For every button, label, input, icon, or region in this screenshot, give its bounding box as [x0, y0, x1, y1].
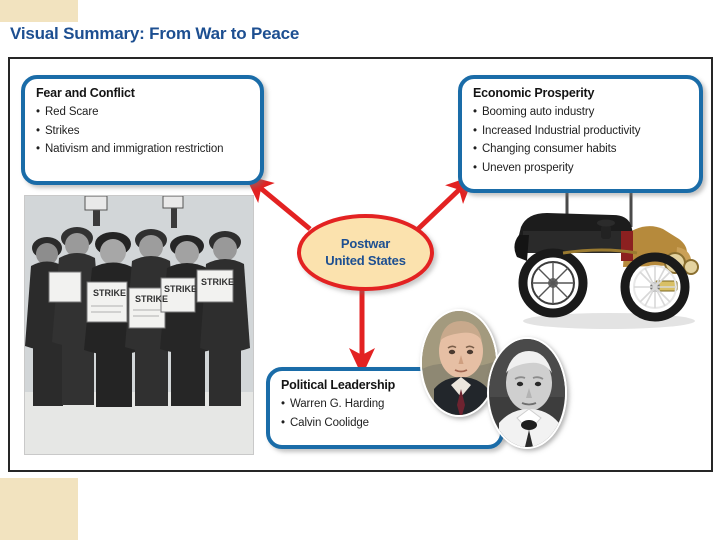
list-item: Increased Industrial productivity: [473, 122, 699, 141]
list-item: Nativism and immigration restriction: [36, 140, 260, 159]
list-item: Strikes: [36, 122, 260, 141]
bottom-accent-band: [0, 478, 78, 540]
box-economic-bullets: Booming auto industry Increased Industri…: [462, 103, 699, 184]
list-item: Booming auto industry: [473, 103, 699, 122]
arrow-to-fear-and-conflict: [258, 186, 310, 229]
list-item: Changing consumer habits: [473, 140, 699, 159]
center-node-line1: Postwar: [325, 236, 405, 252]
list-item: Uneven prosperity: [473, 159, 699, 178]
box-fear-bullets: Red Scare Strikes Nativism and immigrati…: [25, 103, 260, 165]
warren-g-harding-portrait: [487, 337, 567, 449]
striking-workers-photo: STRIKE STRIKE STRIKE STRIKE: [24, 195, 254, 455]
box-fear-title: Fear and Conflict: [36, 86, 260, 100]
page-title: Visual Summary: From War to Peace: [10, 24, 299, 44]
svg-text:STRIKE: STRIKE: [93, 288, 126, 298]
top-accent-band: [0, 0, 78, 22]
svg-text:STRIKE: STRIKE: [201, 277, 234, 287]
box-fear-and-conflict[interactable]: Fear and Conflict Red Scare Strikes Nati…: [21, 75, 264, 185]
box-economic-prosperity[interactable]: Economic Prosperity Booming auto industr…: [458, 75, 703, 193]
antique-model-t-automobile-photo: [505, 169, 710, 334]
svg-text:STRIKE: STRIKE: [135, 294, 168, 304]
box-economic-title: Economic Prosperity: [473, 86, 699, 100]
center-node-line2: United States: [325, 253, 405, 269]
diagram-frame: STRIKE STRIKE STRIKE STRIKE: [8, 57, 713, 472]
center-node-postwar-united-states[interactable]: Postwar United States: [297, 214, 434, 291]
arrow-to-economic-prosperity: [418, 187, 462, 229]
list-item: Calvin Coolidge: [281, 414, 500, 433]
svg-text:STRIKE: STRIKE: [164, 284, 197, 294]
calvin-coolidge-portrait: [420, 309, 498, 417]
center-node-label: Postwar United States: [325, 236, 405, 269]
list-item: Red Scare: [36, 103, 260, 122]
